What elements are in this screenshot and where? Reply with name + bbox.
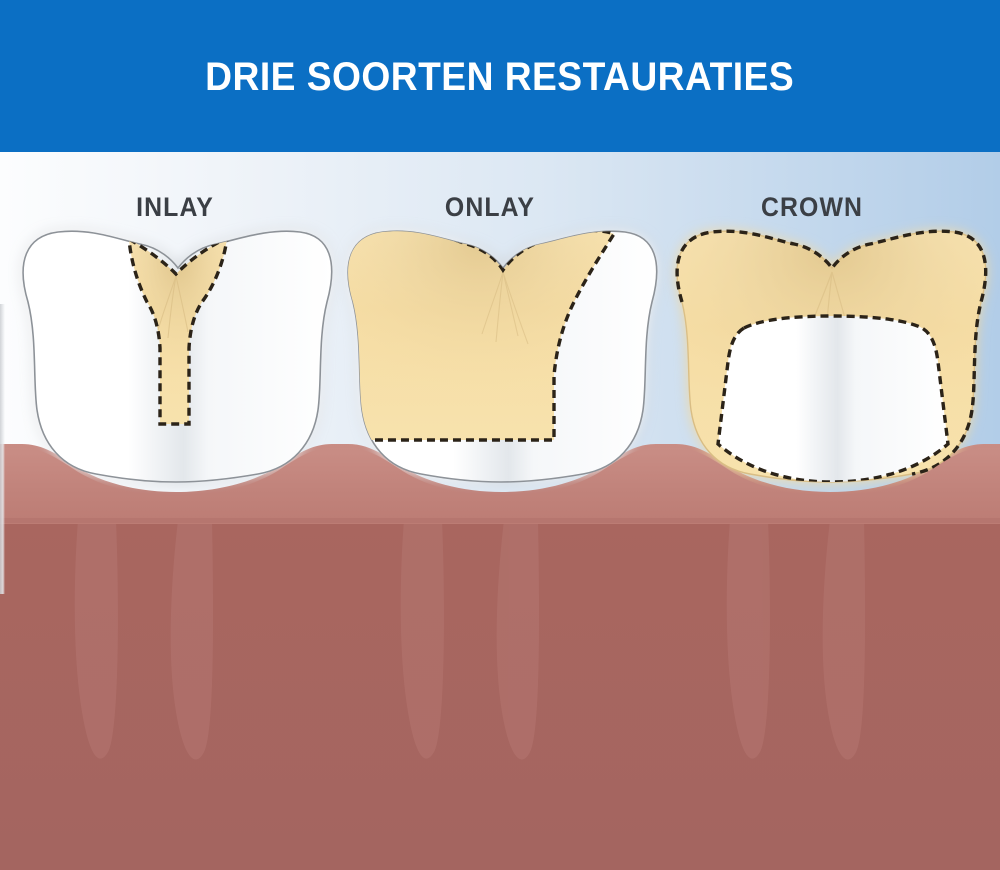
header-banner: DRIE SOORTEN RESTAURATIES xyxy=(0,0,1000,152)
tooth-label-crown: CROWN xyxy=(738,192,885,223)
dental-illustration xyxy=(0,152,1000,870)
tooth-label-onlay: ONLAY xyxy=(416,192,563,223)
tooth-inlay xyxy=(23,231,332,482)
tooth-label-inlay: INLAY xyxy=(101,192,248,223)
prepared-core-crown xyxy=(718,316,948,482)
tooth-crown xyxy=(677,231,986,482)
dental-illustration-svg xyxy=(0,152,1000,870)
page-title: DRIE SOORTEN RESTAURATIES xyxy=(206,57,795,97)
poster-root: DRIE SOORTEN RESTAURATIES xyxy=(0,0,1000,870)
tooth-onlay xyxy=(344,227,656,482)
